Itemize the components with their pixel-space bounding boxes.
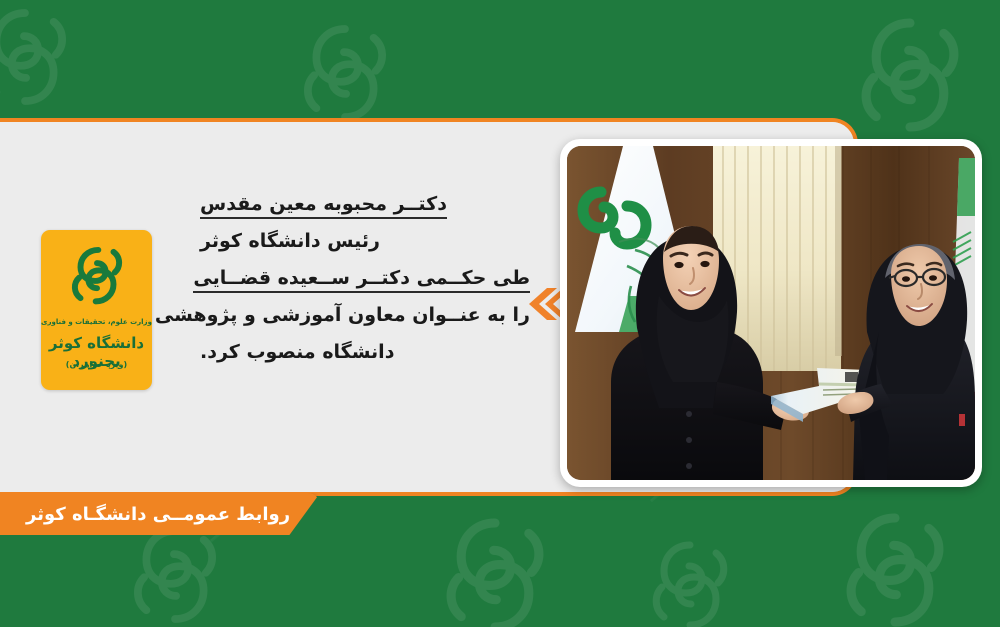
announcement-line-text: دکتــر محبوبه معین مقدس xyxy=(200,193,447,219)
kowsar-logo-watermark xyxy=(830,505,960,627)
announcement-line: دانشگاه منصوب کرد. xyxy=(200,334,530,371)
announcement-line: طی حکــمی دکتــر ســعیده قضــایی xyxy=(200,260,530,297)
announcement-line-text: دانشگاه منصوب کرد. xyxy=(200,341,394,363)
announcement-text: دکتــر محبوبه معین مقدس رئیس دانشگاه کوث… xyxy=(200,186,530,371)
kowsar-logo-watermark xyxy=(640,535,740,627)
logo-ministry-line: وزارت علوم، تحقیقات و فناوری xyxy=(41,318,152,326)
announcement-line: دکتــر محبوبه معین مقدس xyxy=(200,186,530,223)
public-relations-ribbon: روابط عمومــی دانشگـاه کوثر xyxy=(0,493,320,535)
kowsar-logo-watermark xyxy=(290,18,400,128)
announcement-line-text: رئیس دانشگاه کوثر xyxy=(200,230,380,252)
poster-canvas: وزارت علوم، تحقیقات و فناوری دانشگاه کوث… xyxy=(0,0,1000,627)
logo-subtitle-line: (ویژه خواهران) xyxy=(41,360,152,369)
university-logo-badge: وزارت علوم، تحقیقات و فناوری دانشگاه کوث… xyxy=(41,230,152,390)
kowsar-logo-icon xyxy=(64,242,130,308)
announcement-line-text: را به عنــوان معاون آموزشی و پژوهشی xyxy=(155,304,530,326)
announcement-line: را به عنــوان معاون آموزشی و پژوهشی xyxy=(200,297,530,334)
photo-card xyxy=(560,139,982,487)
kowsar-logo-watermark xyxy=(845,10,975,140)
ribbon-label: روابط عمومــی دانشگـاه کوثر xyxy=(26,504,290,525)
kowsar-logo-watermark xyxy=(120,520,230,627)
announcement-line: رئیس دانشگاه کوثر xyxy=(200,223,530,260)
certificate-handover-photo xyxy=(567,146,975,480)
announcement-line-text: طی حکــمی دکتــر ســعیده قضــایی xyxy=(193,267,530,293)
kowsar-logo-watermark xyxy=(0,2,80,112)
kowsar-logo-watermark xyxy=(430,510,560,627)
